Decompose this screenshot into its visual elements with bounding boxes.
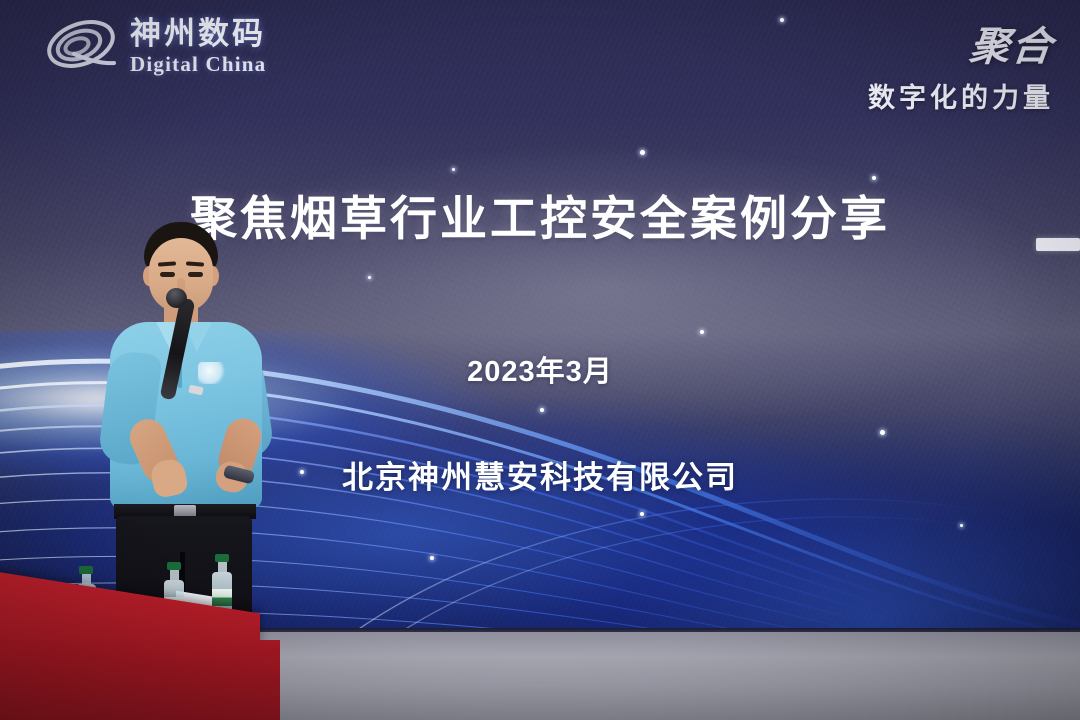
speaker-eye-left (160, 272, 175, 277)
brand-name-en: Digital China (130, 54, 266, 75)
screen-edge-light-bar (1036, 238, 1080, 251)
sparkle-dot (640, 512, 644, 516)
event-tagline: 聚合 数字化的力量 (868, 14, 1054, 115)
sparkle-dot (700, 330, 704, 334)
brand-lockup: 神州数码 Digital China (44, 14, 266, 78)
speaker-eye-right (188, 272, 203, 277)
sparkle-dot (880, 430, 885, 435)
sparkle-dot (640, 150, 645, 155)
sparkle-dot (430, 556, 434, 560)
sparkle-dot (960, 524, 963, 527)
conference-presentation-photo: 神州数码 Digital China 聚合 数字化的力量 聚焦烟草行业工控安全案… (0, 0, 1080, 720)
tagline-subtitle: 数字化的力量 (868, 76, 1054, 115)
red-table-cloth-skirt (0, 640, 280, 720)
digital-china-swirl-icon (44, 14, 118, 78)
brand-name-cn: 神州数码 (130, 18, 266, 49)
sparkle-dot (780, 18, 784, 22)
sparkle-dot (452, 168, 455, 171)
sparkle-dot (368, 276, 371, 279)
shirt-logo-badge-icon (198, 362, 226, 384)
tagline-calligraphy: 聚合 (865, 14, 1057, 72)
sparkle-dot (540, 408, 544, 412)
speaker-presenter (96, 222, 276, 632)
